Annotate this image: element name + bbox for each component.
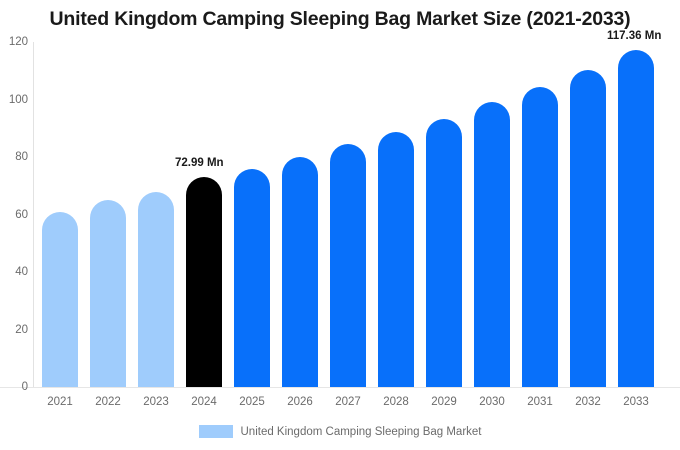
x-axis-tick-2022: 2022 (84, 396, 132, 408)
x-axis-tick-2031: 2031 (516, 396, 564, 408)
x-axis-tick-2033: 2033 (612, 396, 660, 408)
x-axis-tick-2027: 2027 (324, 396, 372, 408)
x-axis-tick-2021: 2021 (36, 396, 84, 408)
x-axis-tick-2032: 2032 (564, 396, 612, 408)
x-axis-tick-labels: 2021202220232024202520262027202820292030… (0, 0, 680, 450)
x-axis-tick-2030: 2030 (468, 396, 516, 408)
x-axis-tick-2024: 2024 (180, 396, 228, 408)
x-axis-tick-2029: 2029 (420, 396, 468, 408)
x-axis-tick-2025: 2025 (228, 396, 276, 408)
chart-legend: United Kingdom Camping Sleeping Bag Mark… (0, 425, 680, 438)
x-axis-tick-2028: 2028 (372, 396, 420, 408)
legend-swatch-icon (199, 425, 233, 438)
legend-label: United Kingdom Camping Sleeping Bag Mark… (241, 426, 482, 438)
x-axis-tick-2026: 2026 (276, 396, 324, 408)
bar-chart: United Kingdom Camping Sleeping Bag Mark… (0, 0, 680, 450)
x-axis-tick-2023: 2023 (132, 396, 180, 408)
